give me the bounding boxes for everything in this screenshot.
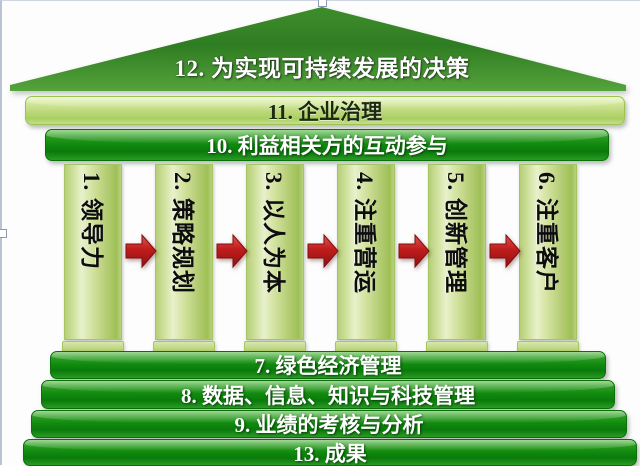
column-6-label: 6. 注重客户 — [520, 165, 578, 341]
right-arrow-icon[interactable] — [398, 233, 430, 269]
beam-13-results[interactable]: 13. 成果 — [23, 439, 637, 466]
beam-10-label: 10. 利益相关方的互动参与 — [206, 130, 448, 160]
beam-13-label: 13. 成果 — [293, 439, 367, 466]
slide-canvas: 12. 为实现可持续发展的决策 11. 企业治理 10. 利益相关方的互动参与 … — [0, 0, 640, 465]
beam-9-label: 9. 业绩的考核与分析 — [235, 410, 424, 438]
beam-10-stakeholder-engagement[interactable]: 10. 利益相关方的互动参与 — [45, 129, 609, 161]
column-3-people-oriented[interactable]: 3. 以人为本 — [246, 164, 304, 340]
column-1-leadership[interactable]: 1. 领导力 — [64, 164, 122, 340]
right-arrow-icon[interactable] — [489, 233, 521, 269]
column-4-operations-focus[interactable]: 4. 注重营运 — [337, 164, 395, 340]
beam-9-performance-assessment-analysis[interactable]: 9. 业绩的考核与分析 — [31, 410, 627, 438]
right-arrow-icon[interactable] — [307, 233, 339, 269]
column-6-customer-focus[interactable]: 6. 注重客户 — [519, 164, 577, 340]
right-arrow-icon[interactable] — [125, 233, 157, 269]
column-1-label: 1. 领导力 — [65, 165, 123, 341]
beam-11-label: 11. 企业治理 — [268, 96, 382, 125]
column-5-innovation-management[interactable]: 5. 创新管理 — [428, 164, 486, 340]
column-2-label: 2. 策略规划 — [156, 165, 214, 341]
right-arrow-icon[interactable] — [216, 233, 248, 269]
beam-7-green-economy-management[interactable]: 7. 绿色经济管理 — [50, 351, 606, 379]
column-3-label: 3. 以人为本 — [247, 165, 305, 341]
canvas-handle-left[interactable] — [0, 229, 7, 238]
beam-8-label: 8. 数据、信息、知识与科技管理 — [181, 380, 475, 409]
beam-7-label: 7. 绿色经济管理 — [255, 351, 402, 379]
canvas-handle-top[interactable] — [318, 0, 327, 7]
column-5-label: 5. 创新管理 — [429, 165, 487, 341]
beam-11-corporate-governance[interactable]: 11. 企业治理 — [25, 96, 625, 125]
column-4-label: 4. 注重营运 — [338, 165, 396, 341]
temple-roof-shape[interactable] — [10, 7, 626, 91]
beam-8-data-information-knowledge-technology[interactable]: 8. 数据、信息、知识与科技管理 — [41, 380, 615, 409]
column-2-strategy-planning[interactable]: 2. 策略规划 — [155, 164, 213, 340]
